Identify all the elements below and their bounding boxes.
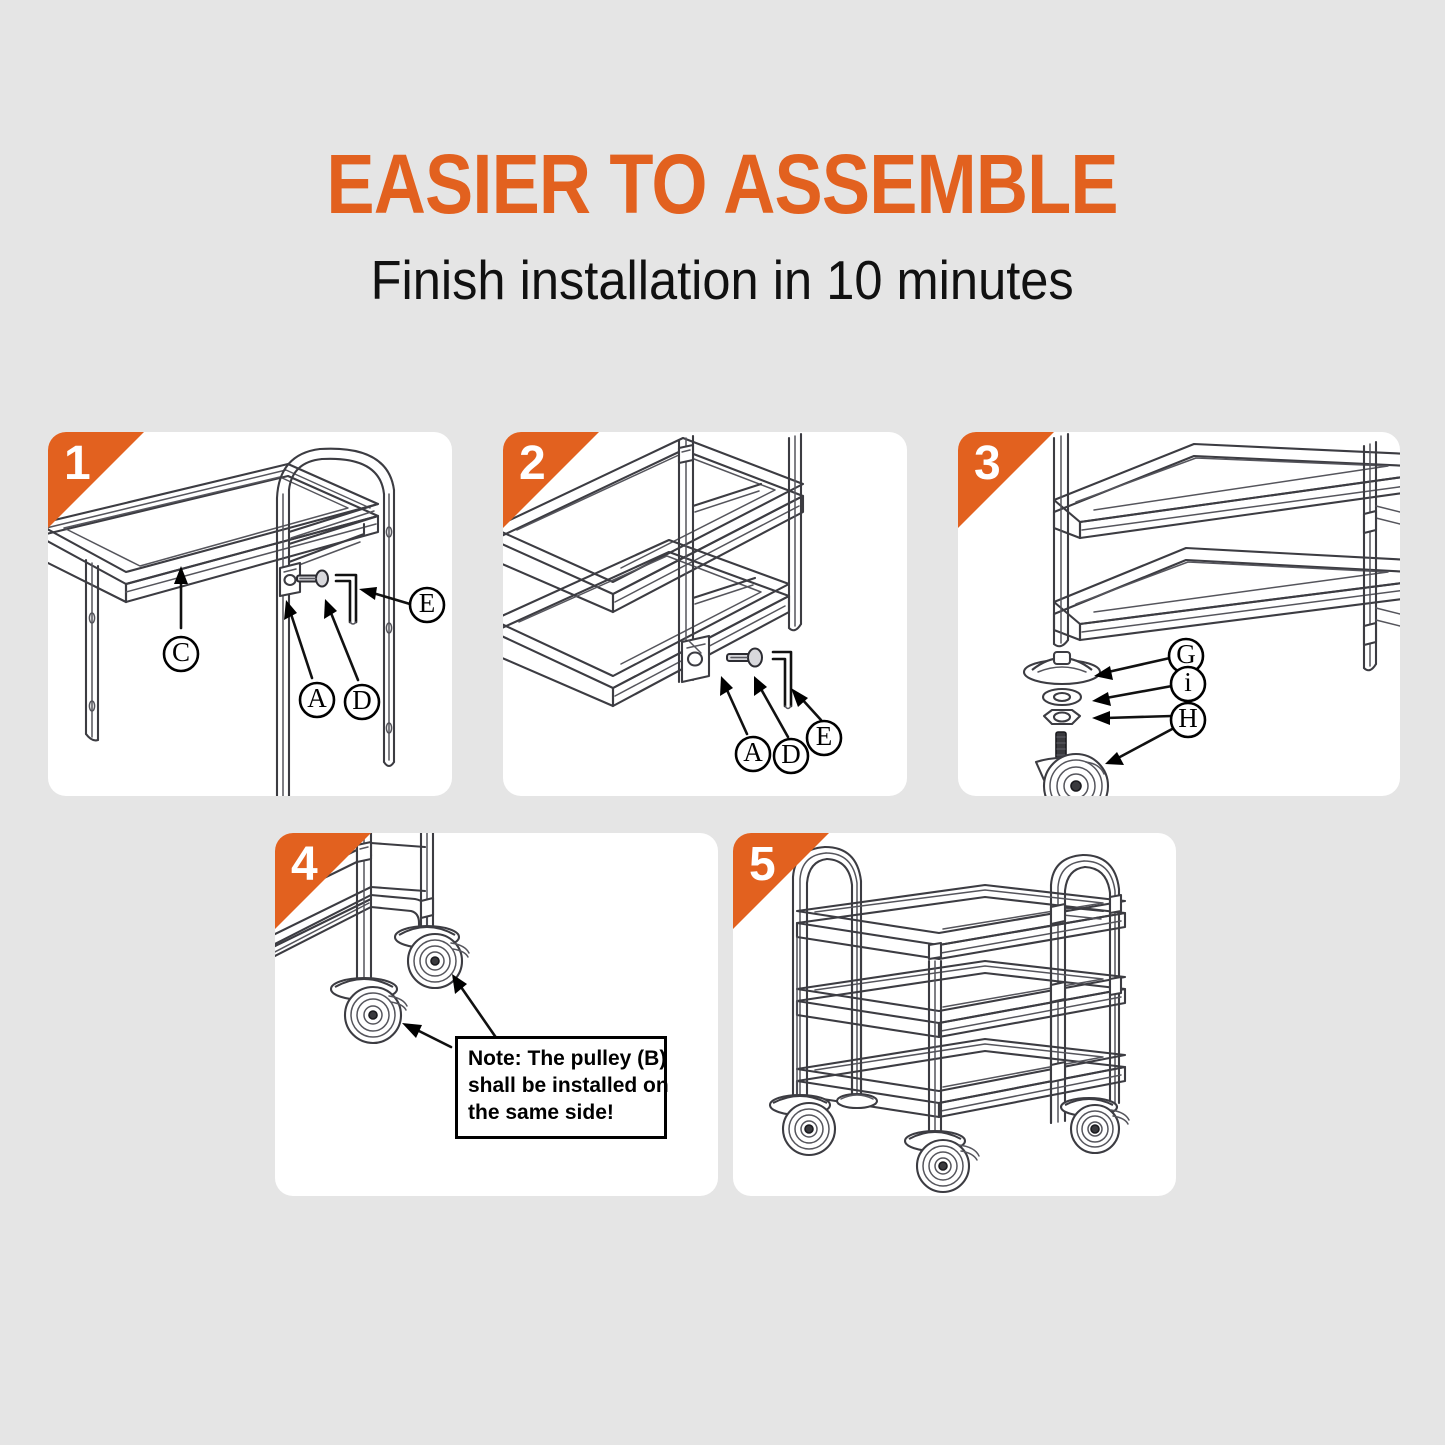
step-panel-5: 5 <box>733 833 1176 1196</box>
bolt-part <box>727 649 762 667</box>
step-panel-1: C A D E 1 <box>48 432 452 796</box>
page-title: EASIER TO ASSEMBLE <box>327 142 1118 226</box>
callout-C: C <box>164 566 198 671</box>
label-C: C <box>172 637 190 667</box>
label-i: i <box>1184 667 1192 697</box>
step-panel-2: A D E 2 <box>503 432 907 796</box>
note-line-1: Note: The pulley (B) <box>468 1046 654 1073</box>
callout-H: H <box>1092 703 1205 765</box>
page-subtitle: Finish installation in 10 minutes <box>371 252 1074 310</box>
caster-rear-right <box>1061 1098 1129 1153</box>
step-1-illustration: C A D E <box>48 432 452 796</box>
step-3-illustration: G i H <box>958 432 1400 796</box>
label-D: D <box>781 739 801 769</box>
caster-wheel-part <box>1036 732 1108 796</box>
label-A: A <box>743 737 763 767</box>
label-D: D <box>352 685 372 715</box>
caster-front-center <box>905 1131 979 1192</box>
callout-A: A <box>284 600 334 717</box>
step-4-illustration <box>275 833 718 1196</box>
step-2-illustration: A D E <box>503 432 907 796</box>
hex-nut-part <box>1044 710 1080 724</box>
note-line-3: the same side! <box>468 1100 654 1127</box>
header: EASIER TO ASSEMBLE Finish installation i… <box>0 0 1445 400</box>
label-E: E <box>419 588 436 618</box>
note-callout: Note: The pulley (B) shall be installed … <box>455 1036 667 1139</box>
dome-cap-part <box>1024 652 1100 684</box>
step-5-illustration <box>733 833 1176 1196</box>
washer-part <box>1043 689 1081 705</box>
label-A: A <box>307 683 327 713</box>
caster-front <box>331 978 407 1043</box>
callout-E: E <box>359 587 444 622</box>
step-panel-4: Note: The pulley (B) shall be installed … <box>275 833 718 1196</box>
step-panel-3: G i H 3 <box>958 432 1400 796</box>
label-H: H <box>1178 703 1198 733</box>
caster-front-left <box>770 1095 835 1155</box>
label-E: E <box>816 721 833 751</box>
caster-rear-left <box>837 1094 877 1108</box>
bolt-part <box>297 571 328 587</box>
note-line-2: shall be installed on <box>468 1073 654 1100</box>
label-G: G <box>1176 639 1196 669</box>
